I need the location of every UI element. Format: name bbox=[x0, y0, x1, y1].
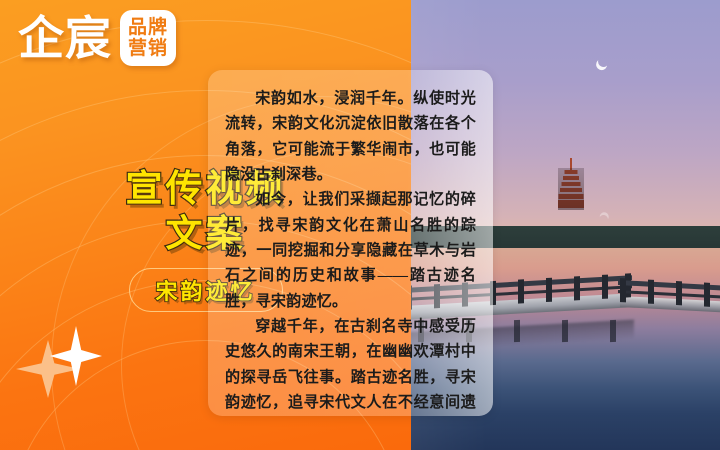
article-paragraph: 穿越千年，在古刹名寺中感受历史悠久的南宋王朝，在幽幽欢潭村中的探寻岳飞往事。踏古… bbox=[225, 315, 476, 416]
sparkle-white bbox=[50, 326, 102, 386]
brand-logo[interactable]: 企宸 品牌 营销 bbox=[18, 10, 176, 66]
brand-badge: 品牌 营销 bbox=[120, 10, 176, 66]
badge-line-2: 营销 bbox=[128, 39, 168, 59]
sparkle-peach bbox=[16, 340, 80, 398]
article-body: 宋韵如水，浸润千年。纵使时光流转，宋韵文化沉淀依旧散落在各个角落，它可能流于繁华… bbox=[208, 70, 493, 416]
article-paragraph: 宋韵如水，浸润千年。纵使时光流转，宋韵文化沉淀依旧散落在各个角落，它可能流于繁华… bbox=[225, 87, 476, 188]
badge-line-1: 品牌 bbox=[128, 18, 168, 38]
poster-canvas: 企宸 品牌 营销 宣传视频 文案 宋韵迹忆 宋韵如水，浸润千年。纵使时光流转，宋… bbox=[0, 0, 720, 450]
article-paragraph: 如今，让我们采撷起那记忆的碎片，找寻宋韵文化在萧山名胜的踪迹，一同挖掘和分享隐藏… bbox=[225, 188, 476, 315]
article-card: 宋韵如水，浸润千年。纵使时光流转，宋韵文化沉淀依旧散落在各个角落，它可能流于繁华… bbox=[208, 70, 493, 416]
four-point-sparkle-icon bbox=[16, 326, 108, 400]
brand-wordmark: 企宸 bbox=[18, 15, 112, 61]
